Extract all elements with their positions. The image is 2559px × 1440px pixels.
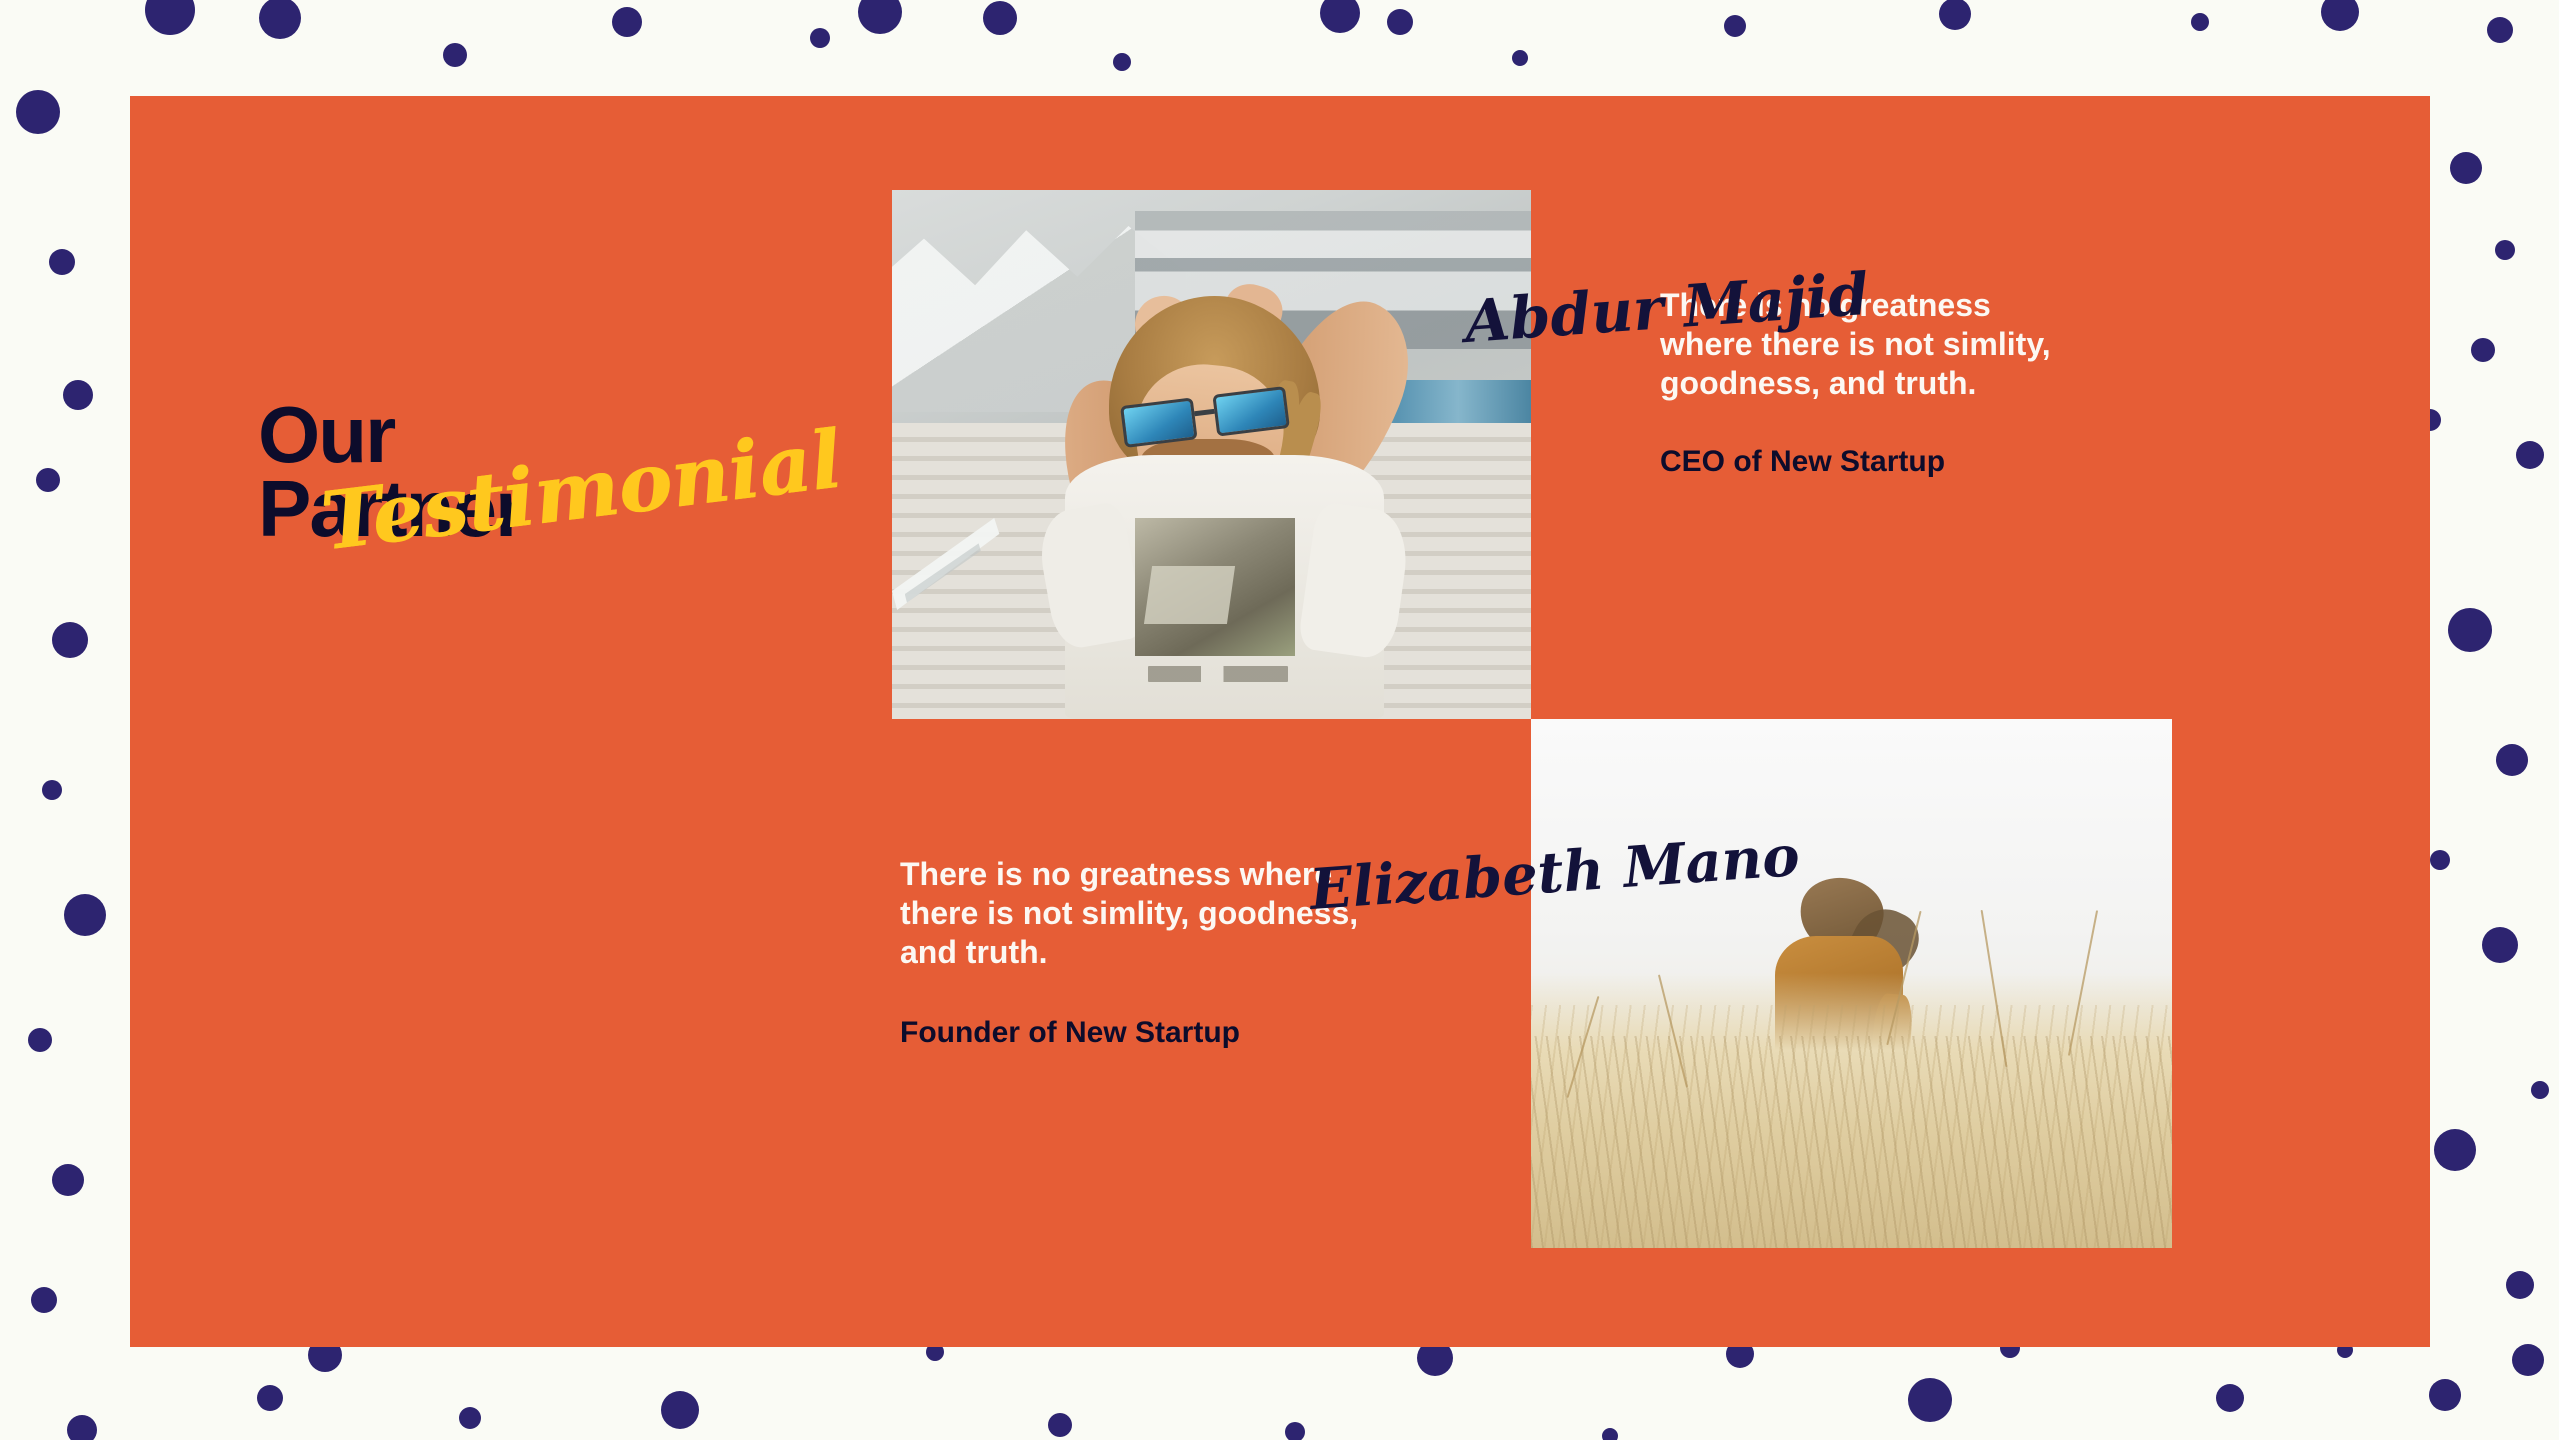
background-dot	[443, 43, 467, 67]
background-dot	[2471, 338, 2495, 362]
background-dot	[2434, 1129, 2476, 1171]
background-dot	[31, 1287, 57, 1313]
background-dot	[28, 1028, 52, 1052]
background-dot	[2450, 152, 2482, 184]
background-dot	[52, 622, 88, 658]
background-dot	[2531, 1081, 2549, 1099]
background-dot	[858, 0, 902, 34]
background-dot	[2430, 850, 2450, 870]
background-dot	[2429, 1379, 2461, 1411]
testimonial-one-role: CEO of New Startup	[1660, 445, 2220, 479]
background-dot	[1320, 0, 1360, 33]
background-dot	[2482, 927, 2518, 963]
background-dot	[2487, 17, 2513, 43]
background-dot	[2516, 441, 2544, 469]
title-block: Our Partner Testimonial	[258, 398, 818, 648]
background-dot	[36, 468, 60, 492]
background-dot	[2448, 608, 2492, 652]
background-dot	[49, 249, 75, 275]
background-dot	[2512, 1344, 2544, 1376]
background-dot	[257, 1385, 283, 1411]
background-dot	[67, 1415, 97, 1440]
background-dot	[2496, 744, 2528, 776]
background-dot	[1387, 9, 1413, 35]
photo1-tshirt-graphic-highlight	[1144, 566, 1235, 624]
background-dot	[983, 1, 1017, 35]
background-dot	[42, 780, 62, 800]
background-dot	[2495, 240, 2515, 260]
photo2-grass-texture-b	[1531, 1005, 2172, 1248]
background-dot	[1285, 1422, 1305, 1440]
background-dot	[1724, 15, 1746, 37]
testimonial-photo-elizabeth-mano	[1531, 719, 2172, 1248]
background-dot	[1908, 1378, 1952, 1422]
background-dot	[259, 0, 301, 39]
background-dot	[2321, 0, 2359, 31]
background-dot	[52, 1164, 84, 1196]
testimonial-two-role: Founder of New Startup	[900, 1016, 1500, 1050]
background-dot	[2191, 13, 2209, 31]
background-dot	[1512, 50, 1528, 66]
photo1-glasses-bridge	[1194, 409, 1214, 417]
background-dot	[1602, 1428, 1618, 1440]
background-dot	[2506, 1271, 2534, 1299]
background-dot	[145, 0, 195, 35]
background-dot	[661, 1391, 699, 1429]
background-dot	[1939, 0, 1971, 30]
background-dot	[64, 894, 106, 936]
background-dot	[1113, 53, 1131, 71]
testimonial-photo-abdur-majid	[892, 190, 1531, 719]
background-dot	[1048, 1413, 1072, 1437]
background-dot	[612, 7, 642, 37]
background-dot	[63, 380, 93, 410]
background-dot	[2216, 1384, 2244, 1412]
slide-canvas: Our Partner Testimonial	[0, 0, 2559, 1440]
photo1-tshirt-text	[1148, 666, 1289, 682]
background-dot	[459, 1407, 481, 1429]
background-dot	[16, 90, 60, 134]
background-dot	[810, 28, 830, 48]
